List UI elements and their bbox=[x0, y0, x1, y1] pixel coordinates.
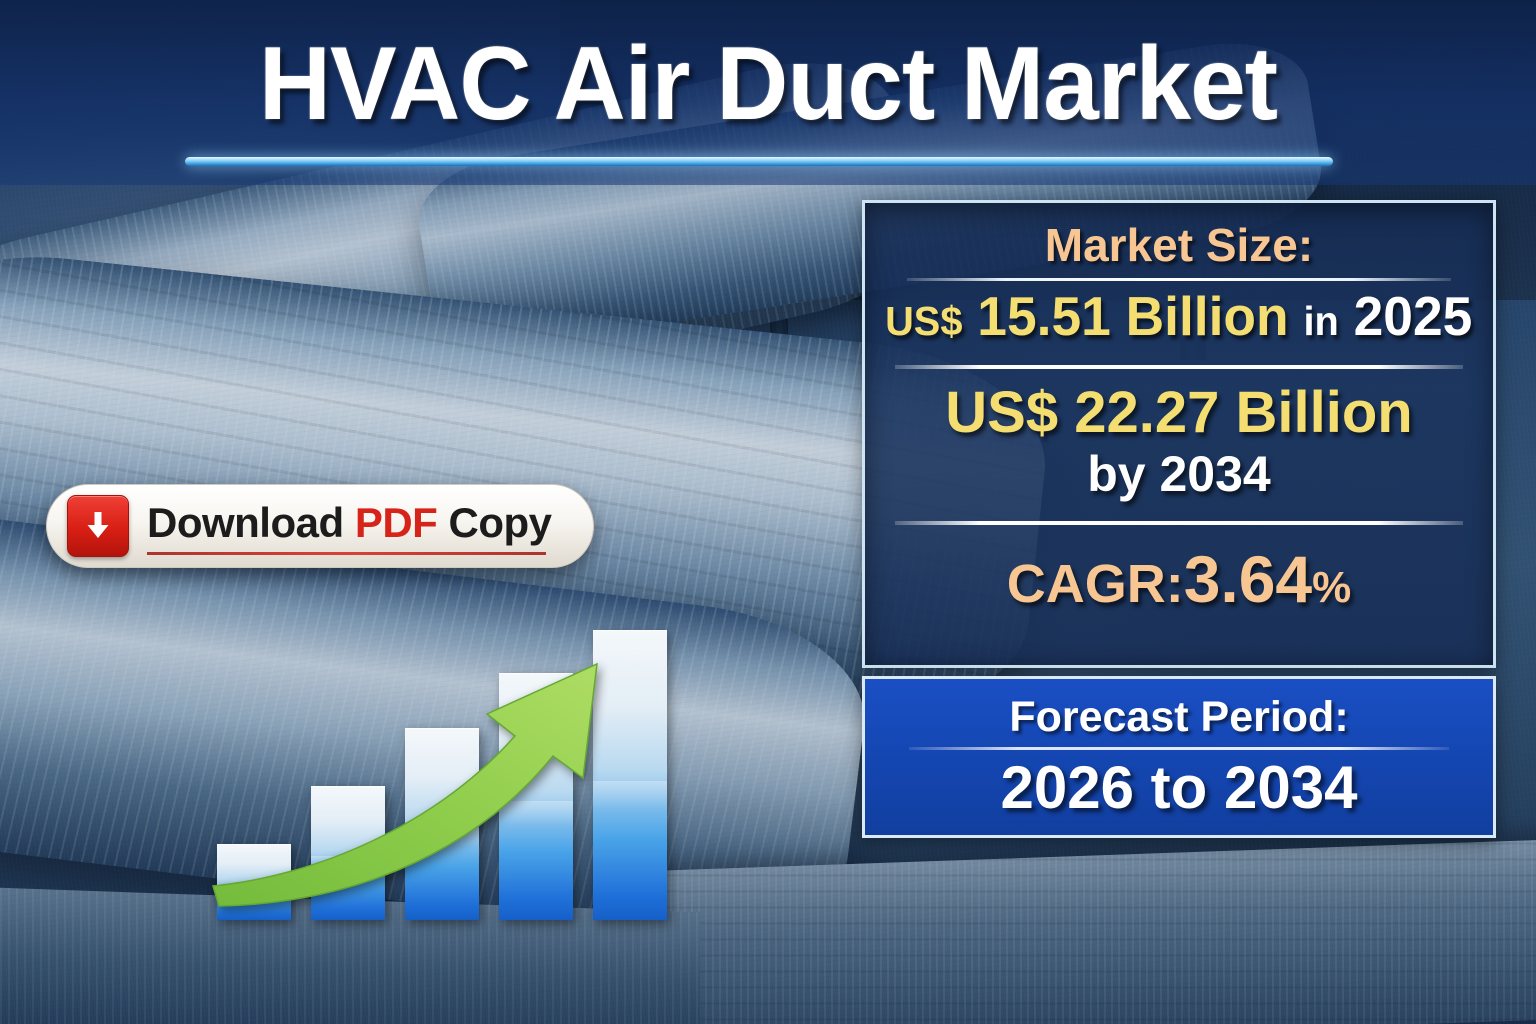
market-size-2034-value: US$ 22.27 Billion bbox=[945, 383, 1412, 444]
title-underline-rule bbox=[185, 157, 1333, 166]
stats-divider-3 bbox=[895, 521, 1463, 525]
infographic-canvas: HVAC Air Duct Market bbox=[0, 0, 1536, 1024]
download-label-pdf: PDF bbox=[355, 499, 438, 546]
download-button-label: Download PDF Copy bbox=[147, 499, 552, 553]
download-label-after: Copy bbox=[449, 499, 552, 546]
cagr-percent-symbol: % bbox=[1312, 563, 1351, 612]
market-size-label: Market Size: bbox=[1045, 221, 1313, 269]
page-title: HVAC Air Duct Market bbox=[31, 26, 1506, 142]
connector-2025: in bbox=[1304, 298, 1339, 344]
forecast-period-label: Forecast Period: bbox=[1009, 695, 1348, 740]
market-size-2025-value: US$ 15.51 Billion in 2025 bbox=[885, 287, 1472, 346]
unit-2025: Billion bbox=[1126, 285, 1289, 347]
table-row bbox=[499, 673, 573, 920]
table-row bbox=[593, 630, 667, 920]
chart-bars bbox=[205, 630, 655, 920]
market-size-2034-year: by 2034 bbox=[1087, 446, 1270, 504]
table-row bbox=[311, 786, 385, 920]
cagr-row: CAGR:3.64% bbox=[1007, 545, 1352, 614]
download-arrow-icon bbox=[67, 495, 129, 557]
value-2025: 15.51 bbox=[978, 285, 1112, 347]
year-2025: 2025 bbox=[1354, 285, 1473, 347]
market-stats-panel: Market Size: US$ 15.51 Billion in 2025 U… bbox=[862, 200, 1496, 668]
currency-2025: US$ bbox=[885, 298, 962, 344]
forecast-period-value: 2026 to 2034 bbox=[1001, 756, 1358, 819]
cagr-value: 3.64 bbox=[1184, 542, 1312, 616]
download-label-underline bbox=[147, 552, 546, 555]
growth-bar-chart bbox=[205, 630, 655, 920]
table-row bbox=[217, 844, 291, 920]
download-label-before: Download bbox=[147, 499, 344, 546]
table-row bbox=[405, 728, 479, 920]
stats-divider-2 bbox=[895, 365, 1463, 369]
stats-divider-1 bbox=[907, 278, 1452, 281]
forecast-period-panel: Forecast Period: 2026 to 2034 bbox=[862, 676, 1496, 838]
download-pdf-button[interactable]: Download PDF Copy bbox=[46, 484, 594, 568]
forecast-divider bbox=[909, 747, 1449, 750]
cagr-label: CAGR: bbox=[1007, 554, 1184, 614]
